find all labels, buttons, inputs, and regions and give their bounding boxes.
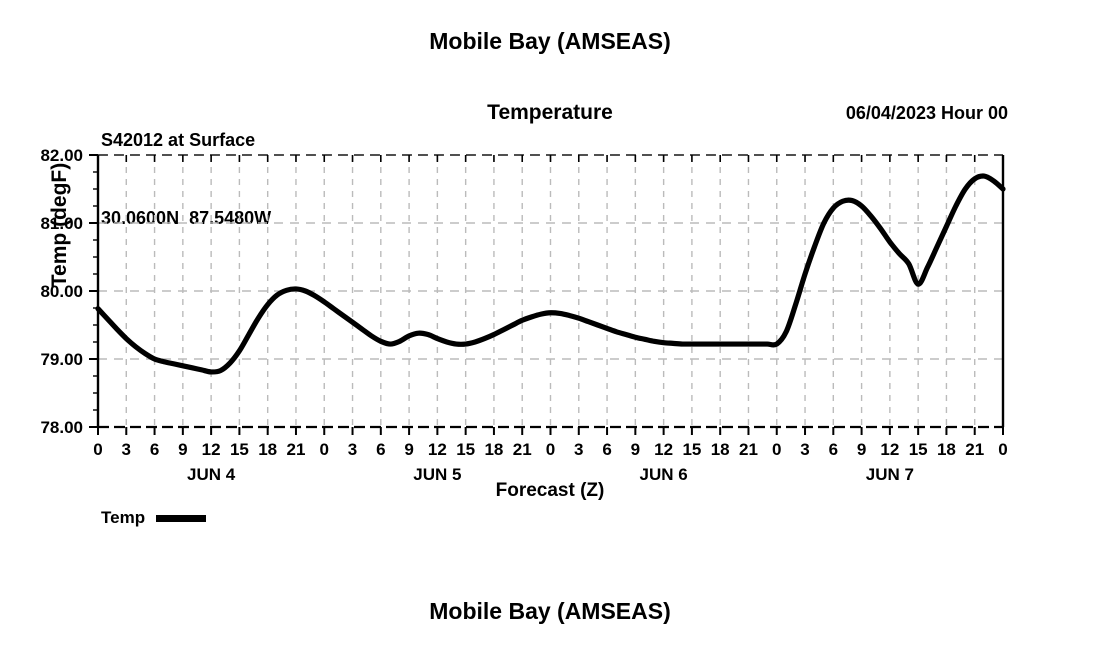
x-tick-label: 15 (230, 440, 249, 459)
x-tick-label: 0 (546, 440, 555, 459)
x-tick-label: 6 (376, 440, 385, 459)
x-tick-label: 6 (150, 440, 159, 459)
x-tick-label: 21 (739, 440, 758, 459)
x-axis-label: Forecast (Z) (0, 480, 1100, 502)
x-tick-label: 18 (258, 440, 277, 459)
x-tick-label: 9 (631, 440, 640, 459)
x-tick-label: 21 (965, 440, 984, 459)
chart-page: Mobile Bay (AMSEAS) S42012 at Surface 30… (0, 0, 1100, 650)
x-tick-label: 9 (857, 440, 866, 459)
x-tick-label: 21 (287, 440, 306, 459)
x-tick-label: 0 (772, 440, 781, 459)
x-tick-label: 0 (998, 440, 1007, 459)
y-tick-label: 82.00 (40, 146, 83, 165)
x-tick-label: 15 (909, 440, 928, 459)
x-tick-label: 18 (711, 440, 730, 459)
x-tick-label: 18 (937, 440, 956, 459)
y-tick-label: 81.00 (40, 214, 83, 233)
y-tick-label: 79.00 (40, 350, 83, 369)
chart-svg: 0369121518210369121518210369121518210369… (0, 0, 1100, 650)
x-tick-label: 3 (574, 440, 583, 459)
x-tick-label: 18 (484, 440, 503, 459)
x-tick-label: 12 (202, 440, 221, 459)
x-tick-label: 3 (122, 440, 131, 459)
plot-area: 0369121518210369121518210369121518210369… (0, 0, 1100, 650)
x-tick-label: 15 (456, 440, 475, 459)
legend-label-temp: Temp (101, 508, 145, 528)
legend: Temp (101, 508, 206, 528)
x-tick-label: 12 (880, 440, 899, 459)
x-tick-label: 12 (428, 440, 447, 459)
axis-tick-labels: 0369121518210369121518210369121518210369… (40, 146, 1007, 484)
x-tick-label: 3 (800, 440, 809, 459)
x-tick-label: 6 (829, 440, 838, 459)
x-tick-label: 12 (654, 440, 673, 459)
x-tick-label: 0 (93, 440, 102, 459)
x-tick-label: 9 (178, 440, 187, 459)
axis-ticks (89, 155, 1003, 435)
x-tick-label: 3 (348, 440, 357, 459)
grid-lines (98, 155, 1003, 427)
legend-swatch-temp (156, 515, 206, 522)
x-tick-label: 9 (404, 440, 413, 459)
y-tick-label: 80.00 (40, 282, 83, 301)
x-tick-label: 6 (602, 440, 611, 459)
x-tick-label: 15 (682, 440, 701, 459)
x-tick-label: 21 (513, 440, 532, 459)
y-tick-label: 78.00 (40, 418, 83, 437)
x-tick-label: 0 (320, 440, 329, 459)
page-title-bottom: Mobile Bay (AMSEAS) (0, 598, 1100, 625)
